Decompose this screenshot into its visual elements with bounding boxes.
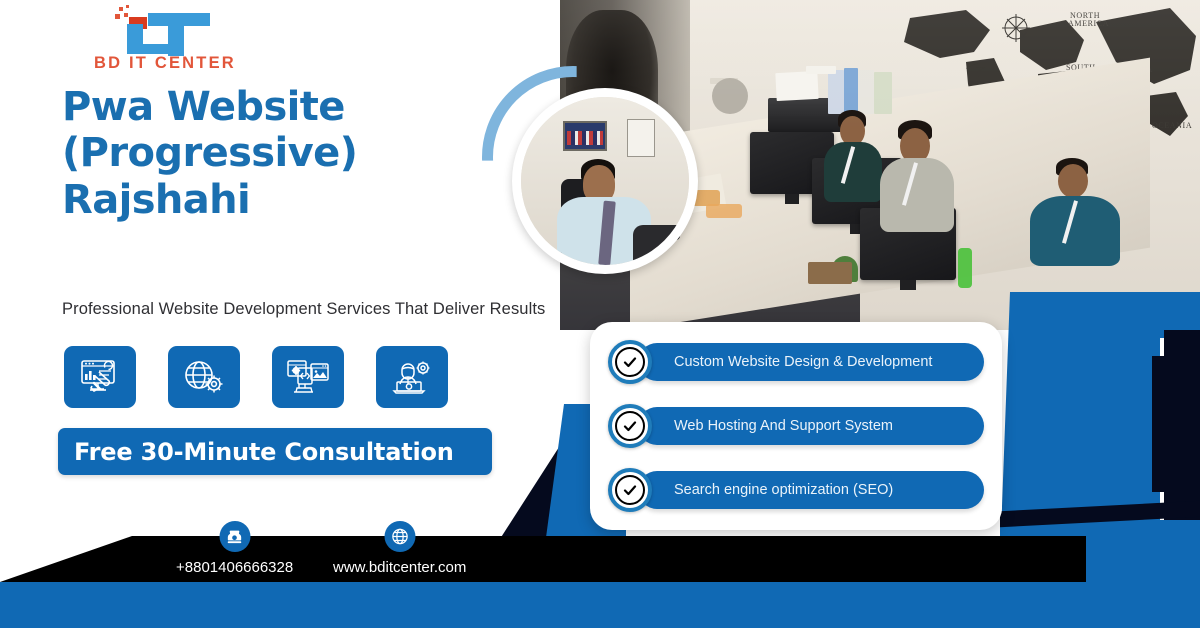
subheadline: Professional Website Development Service…	[62, 300, 582, 319]
page-title: Pwa Website (Progressive) Rajshahi	[62, 84, 492, 223]
consultation-cta-button[interactable]: Free 30-Minute Consultation	[58, 428, 492, 475]
feature-pill: Custom Website Design & Development	[638, 343, 984, 381]
wall-certificate	[627, 119, 655, 157]
feature-label: Custom Website Design & Development	[674, 354, 932, 370]
service-icon-row	[64, 346, 448, 408]
contact-website[interactable]: www.bditcenter.com	[333, 559, 466, 576]
footer-bar	[0, 536, 1086, 582]
dark-block	[1152, 356, 1200, 492]
analytics-maintenance-icon[interactable]	[64, 346, 136, 408]
feature-label: Search engine optimization (SEO)	[674, 482, 893, 498]
feature-row[interactable]: Search engine optimization (SEO)	[608, 466, 984, 514]
wall-photo-content	[567, 131, 603, 145]
cta-label: Free 30-Minute Consultation	[74, 438, 454, 466]
feature-row[interactable]: Web Hosting And Support System	[608, 402, 984, 450]
developer-support-icon[interactable]	[376, 346, 448, 408]
check-circle-icon	[608, 404, 652, 448]
phone-number: +8801406666328	[176, 559, 293, 576]
avatar	[512, 88, 698, 274]
features-card: Custom Website Design & Development Web …	[590, 322, 1002, 530]
logo-monogram-lt-icon	[102, 4, 262, 56]
telephone-icon	[219, 521, 250, 552]
contact-phone[interactable]: +8801406666328	[176, 559, 293, 576]
feature-pill: Search engine optimization (SEO)	[638, 471, 984, 509]
feature-row[interactable]: Custom Website Design & Development	[608, 338, 984, 386]
website-url: www.bditcenter.com	[333, 559, 466, 576]
headline-line-3: Rajshahi	[62, 177, 492, 223]
headline-line-2: (Progressive)	[62, 130, 492, 176]
web-design-development-icon[interactable]	[272, 346, 344, 408]
logo[interactable]: BD IT CENTER	[94, 4, 284, 76]
feature-pill: Web Hosting And Support System	[638, 407, 984, 445]
feature-label: Web Hosting And Support System	[674, 418, 893, 434]
headline-line-1: Pwa Website	[62, 84, 492, 130]
check-circle-icon	[608, 340, 652, 384]
logo-wordmark: BD IT CENTER	[94, 54, 236, 73]
global-settings-icon[interactable]	[168, 346, 240, 408]
promo-banner: NORTH AMERICA SOUTH AMERICA AFRICA OCEAN…	[0, 0, 1200, 628]
footer-accent-bar	[0, 582, 1200, 628]
globe-icon	[384, 521, 415, 552]
check-circle-icon	[608, 468, 652, 512]
